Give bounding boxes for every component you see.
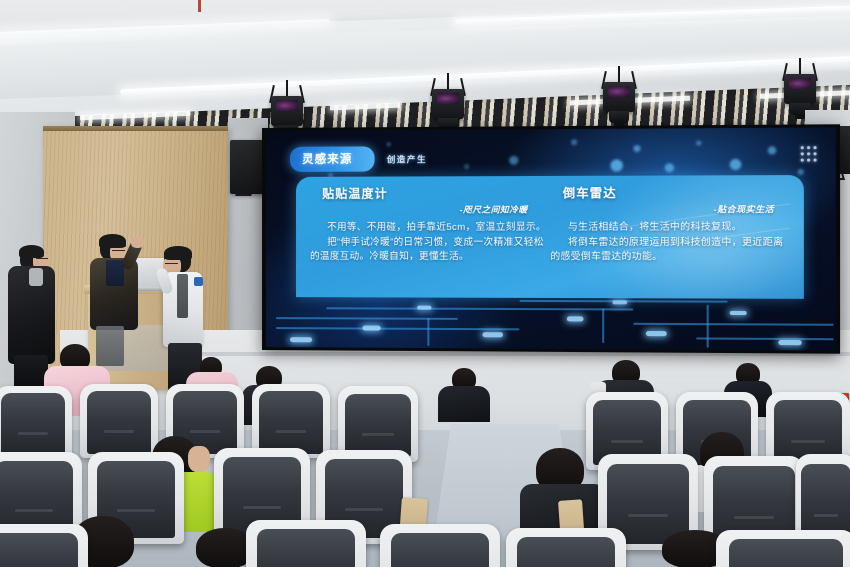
stage-light-foot [795,114,805,119]
bokeh-dot [633,145,640,152]
slide-header: 灵感来源 创造产生 [290,146,427,172]
section-paragraph: 将倒车雷达的原理运用到科技创造中，更近距离的感受倒车雷达的功能。 [550,235,793,265]
jacket-logo-icon [194,277,203,286]
circuit-node [290,337,312,342]
audience-body [438,386,490,422]
seat-cushion [345,394,411,458]
seat-cushion [87,391,151,453]
section-body: 与生活相结合，将生活中的科技复现。 将倒车雷达的原理运用到科技创造中，更近距离的… [550,220,793,265]
grid-dot [801,146,804,149]
bokeh-dot [464,164,469,169]
circuit-trace [602,308,604,343]
presenter-hair [164,246,192,260]
wall-speaker-left [230,140,264,194]
seat-cushion [257,529,355,567]
sprinkler-icon [198,0,201,12]
section-paragraph: 把“伸手试冷暖”的日常习惯，变成一次精准又轻松的温度互动。冷暖自知，更懂生活。 [310,235,546,264]
slide-column-right: 倒车雷达 -贴合现实生活 与生活相结合，将生活中的科技复现。 将倒车雷达的原理运… [550,183,793,265]
circuit-trace [326,307,633,310]
grid-dot [813,158,816,161]
slide-header-badge: 灵感来源 [290,146,375,171]
seat-cushion [259,391,323,453]
stage-light [600,80,638,126]
presenter-collar [29,268,43,286]
section-subtitle: -贴合现实生活 [550,203,774,216]
bokeh-dot [571,139,577,145]
circuit-node [417,306,431,310]
stage-light-yoke [799,58,801,74]
grid-dot [807,159,810,162]
presenter-legs [96,326,124,366]
presenter-hair [19,245,44,258]
circuit-trace [696,337,834,339]
circuit-node [362,326,380,331]
seat-cushion [0,533,78,567]
stage-light-yoke [618,66,620,82]
wood-panel-top-edge [43,126,228,131]
stage-light-lens [608,86,630,97]
section-paragraph: 与生活相结合，将生活中的科技复现。 [550,220,793,235]
circuit-trace [707,305,709,348]
bokeh-dot [509,156,518,165]
circuit-node [482,332,503,337]
grid-dot [801,159,804,162]
stage-light-yoke [447,73,449,89]
grid-dot [801,152,804,155]
circuit-node [613,300,628,304]
audience-face [188,446,210,472]
section-body: 不用等、不用碰，拍手靠近5cm，室温立刻显示。 把“伸手试冷暖”的日常习惯，变成… [310,221,546,265]
audience-seat[interactable] [380,524,500,567]
audience-seat[interactable] [0,524,88,567]
seat-cushion [729,539,844,567]
bokeh-dot [768,146,776,154]
slide-canvas: 灵感来源 创造产生 贴贴温度计 -咫尺之间知冷暖 不用等、不用碰，拍手靠近5c [266,127,836,350]
bokeh-dot [665,163,674,172]
audience-seat[interactable] [506,528,626,567]
circuit-node [778,340,801,345]
bokeh-dot [610,159,622,171]
slide-header-badge-label: 灵感来源 [302,154,352,166]
presenter-hand [131,236,144,248]
section-title: 倒车雷达 [563,183,793,201]
stage-light-lens [437,93,459,104]
section-title: 贴贴温度计 [322,184,546,202]
slide-content-panel: 贴贴温度计 -咫尺之间知冷暖 不用等、不用碰，拍手靠近5cm，室温立刻显示。 把… [296,175,804,299]
section-subtitle: -咫尺之间知冷暖 [310,203,528,215]
grid-dot [813,146,816,149]
circuit-trace [633,323,833,326]
stage-light-lens [276,100,298,111]
circuit-node [567,316,584,321]
slide-header-subtitle: 创造产生 [387,153,427,165]
circuit-trace [276,317,458,319]
grid-dot [813,152,816,155]
seat-cushion [391,533,489,567]
presenter-hair [99,234,126,248]
bokeh-dot [696,141,701,146]
grid-dot [807,152,810,155]
glasses-icon [165,263,178,266]
audience-seat[interactable] [80,384,158,458]
section-paragraph: 不用等、不用碰，拍手靠近5cm，室温立刻显示。 [310,221,546,236]
circuit-trace [276,327,519,330]
audience-seat[interactable] [246,520,366,567]
seat-cushion [1,393,65,455]
stage-light-yoke [286,80,288,96]
circuit-node [646,331,667,336]
auditorium-photo: 灵感来源 创造产生 贴贴温度计 -咫尺之间知冷暖 不用等、不用碰，拍手靠近5c [0,0,850,567]
seat-cushion [517,537,615,567]
circuit-trace [427,318,429,346]
dot-grid-icon [801,146,817,162]
circuit-node [730,311,747,315]
grid-dot [807,146,810,149]
slide-column-left: 贴贴温度计 -咫尺之间知冷暖 不用等、不用碰，拍手靠近5cm，室温立刻显示。 把… [310,184,546,265]
glasses-icon [36,258,48,261]
led-screen[interactable]: 灵感来源 创造产生 贴贴温度计 -咫尺之间知冷暖 不用等、不用碰，拍手靠近5c [262,124,840,353]
bokeh-dot [730,159,742,170]
audience-seat[interactable] [0,386,72,460]
audience-seat[interactable] [716,530,850,567]
presenter-jacket-zip [177,274,188,318]
glasses-icon [112,250,125,253]
audience-seat[interactable] [252,384,330,458]
stage-light-lens [789,78,811,89]
